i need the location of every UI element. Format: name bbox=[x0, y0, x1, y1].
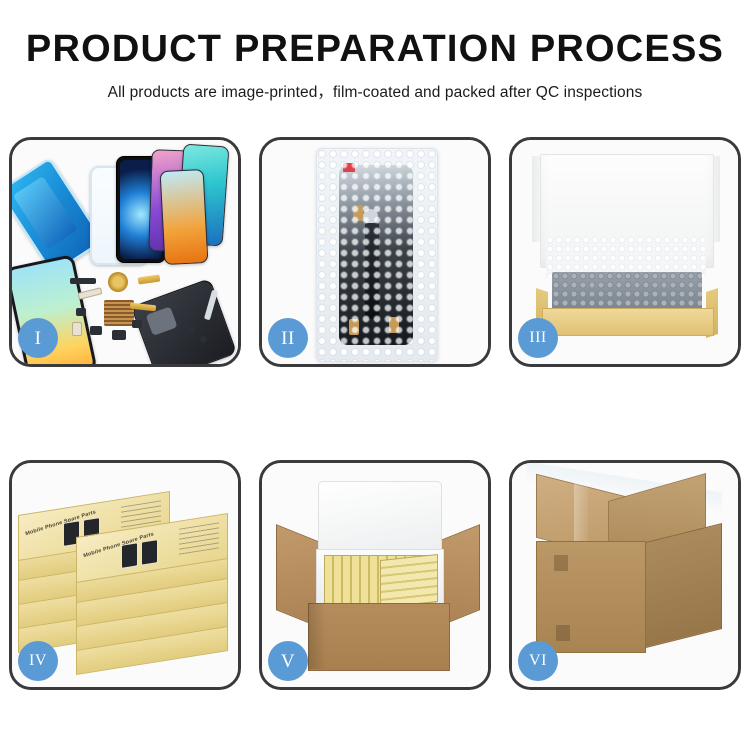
page-title: PRODUCT PREPARATION PROCESS bbox=[0, 30, 750, 70]
product-boxes-image bbox=[380, 554, 438, 608]
carton-body-image bbox=[308, 603, 450, 671]
carton-body-shadow bbox=[308, 603, 326, 669]
sim-tray-image bbox=[72, 322, 82, 336]
carton-handle-cut-image bbox=[554, 555, 568, 571]
phone-back-housing-image bbox=[131, 278, 237, 364]
step-badge-3: III bbox=[518, 318, 558, 358]
foam-cooler-lid-image bbox=[318, 481, 442, 557]
chip-part-image bbox=[132, 320, 142, 328]
screw-image bbox=[200, 336, 207, 343]
box-lid-screen-graphic bbox=[141, 539, 158, 566]
kraft-box-front-image bbox=[542, 308, 714, 336]
process-step-card-3: III bbox=[509, 137, 741, 367]
step-badge-2: II bbox=[268, 318, 308, 358]
page-subtitle: All products are image-printed，film-coat… bbox=[0, 80, 750, 102]
header: PRODUCT PREPARATION PROCESS All products… bbox=[0, 0, 750, 102]
bubble-wrap-image bbox=[316, 148, 438, 362]
carton-side-image bbox=[642, 523, 722, 649]
chip-part-image bbox=[90, 326, 102, 335]
grey-bubble-wrap-image bbox=[552, 272, 702, 312]
bubble-wrap-overlay bbox=[317, 149, 437, 361]
gold-flex-part-image bbox=[138, 275, 161, 285]
screw-image bbox=[188, 326, 195, 333]
step-badge-1: I bbox=[18, 318, 58, 358]
flex-cable-image bbox=[78, 287, 103, 300]
process-step-grid: I II bbox=[9, 137, 741, 690]
process-step-card-4: Mobile Phone Spare Parts Mobile Phone Sp… bbox=[9, 460, 241, 690]
chip-part-image bbox=[112, 330, 126, 340]
process-step-card-6: VI bbox=[509, 460, 741, 690]
carton-front-image bbox=[536, 541, 646, 653]
carton-handle-cut-image bbox=[556, 625, 570, 641]
box-lid-spec-lines bbox=[179, 522, 219, 554]
step-badge-5: V bbox=[268, 641, 308, 681]
step-badge-4: IV bbox=[18, 641, 58, 681]
product-preparation-infographic: PRODUCT PREPARATION PROCESS All products… bbox=[0, 0, 750, 750]
chip-part-image bbox=[76, 308, 86, 316]
process-step-card-2: II bbox=[259, 137, 491, 367]
box-lid-screen-graphic bbox=[121, 542, 138, 569]
orange-phone-image bbox=[160, 169, 209, 265]
process-step-card-1: I bbox=[9, 137, 241, 367]
copper-coil-image bbox=[108, 272, 128, 292]
chip-part-image bbox=[70, 278, 96, 284]
step-badge-6: VI bbox=[518, 641, 558, 681]
process-step-card-5: V bbox=[259, 460, 491, 690]
